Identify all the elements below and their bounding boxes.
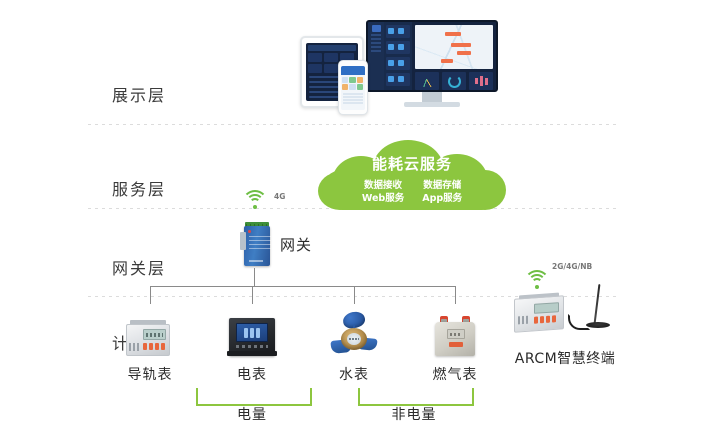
sidebar-row (371, 50, 381, 52)
architecture-diagram: 展示层 服务层 网关层 计量层 (0, 0, 715, 443)
wifi-icon (524, 270, 550, 290)
display-layer-devices (300, 8, 540, 118)
cloud-item: App服务 (422, 192, 462, 205)
arcm-uplink-tag: 2G/4G/NB (552, 262, 592, 271)
monitor-neck (422, 92, 442, 102)
gateway-icon (240, 222, 274, 266)
map-marker (445, 32, 461, 36)
layer-label-gateway: 网关层 (112, 255, 166, 279)
meter-electric: 电表 (206, 306, 298, 384)
gas-meter-icon (409, 304, 501, 358)
connector-drop-din (150, 286, 151, 304)
stat-card (386, 41, 410, 54)
layer-label-service: 服务层 (112, 176, 166, 200)
dashboard-stat-column (384, 22, 412, 90)
tablet-header (308, 45, 356, 51)
phone-list-row (343, 96, 363, 98)
phone-app-icon (357, 77, 363, 83)
map-marker (441, 59, 453, 63)
meter-water: 水表 (308, 300, 400, 384)
arcm-smart-terminal: 2G/4G/NB ARCM智慧终端 (500, 262, 630, 372)
cloud-column-receive: 数据接收 Web服务 (362, 179, 404, 205)
map-panel (415, 25, 493, 69)
energy-cloud-service: 能耗云服务 数据接收 Web服务 数据存储 App服务 (318, 140, 506, 212)
arcm-device-icon (514, 294, 568, 334)
dashboard-sidebar (368, 22, 384, 90)
cloud-title: 能耗云服务 (318, 153, 506, 174)
phone-app-icon (342, 84, 348, 90)
tablet-cell (324, 64, 338, 73)
cloud-text: 能耗云服务 数据接收 Web服务 数据存储 App服务 (318, 140, 506, 212)
phone-header (341, 66, 365, 75)
connector-bus (150, 286, 456, 287)
sidebar-row (371, 42, 381, 44)
cloud-service-columns: 数据接收 Web服务 数据存储 App服务 (318, 179, 506, 205)
phone-list-row (343, 102, 363, 104)
meter-label: 电表 (206, 364, 298, 384)
divider-display-service (88, 124, 616, 125)
phone-app-grid (341, 75, 365, 92)
tablet-cell (324, 53, 338, 62)
gateway-uplink-tag: 4G (274, 192, 285, 201)
water-meter-icon (308, 300, 400, 358)
dashboard-main (412, 22, 496, 90)
cloud-item: 数据接收 (362, 179, 404, 192)
connector-drop-gas (455, 286, 456, 304)
tablet-cell (308, 53, 322, 62)
map-marker (457, 51, 471, 55)
din-rail-meter-icon (104, 306, 196, 358)
phone-screen (341, 66, 365, 110)
layer-label-display: 展示层 (112, 82, 166, 106)
panel-meter-icon (206, 306, 298, 358)
sidebar-row (371, 46, 381, 48)
meter-label: 水表 (308, 364, 400, 384)
sidebar-row (371, 34, 381, 36)
tablet-cell (308, 64, 322, 73)
phone-list-row (343, 99, 363, 101)
phone-app-icon (342, 77, 348, 83)
stat-card (386, 73, 410, 86)
wifi-icon (242, 190, 268, 210)
connector-gateway-stem (254, 268, 255, 286)
cloud-item: Web服务 (362, 192, 404, 205)
trend-chart-widget (415, 72, 439, 90)
gateway-label: 网关 (280, 234, 312, 255)
dashboard-widgets (415, 72, 493, 90)
meter-gas: 燃气表 (409, 304, 501, 384)
smartphone-device (338, 60, 368, 115)
monitor-base (404, 102, 460, 107)
stat-card (386, 25, 410, 38)
sidebar-row (371, 38, 381, 40)
phone-app-icon (349, 77, 355, 83)
bar-chart-widget (469, 72, 493, 90)
phone-app-icon (349, 84, 355, 90)
monitor-screen (366, 20, 498, 92)
meter-label: 燃气表 (409, 364, 501, 384)
phone-list-row (343, 93, 363, 95)
phone-app-icon (357, 84, 363, 90)
meter-label: 导轨表 (104, 364, 196, 384)
stat-card (386, 57, 410, 70)
arcm-label: ARCM智慧终端 (500, 348, 630, 368)
cloud-column-storage: 数据存储 App服务 (422, 179, 462, 205)
map-marker (451, 43, 471, 47)
desktop-monitor (366, 20, 498, 92)
connector-drop-electric (252, 286, 253, 304)
meter-din-rail: 导轨表 (104, 306, 196, 384)
gauge-widget (442, 72, 466, 90)
group-label-non-electric: 非电量 (358, 404, 470, 424)
sidebar-logo-icon (372, 25, 381, 32)
group-label-electric: 电量 (196, 404, 308, 424)
cloud-item: 数据存储 (422, 179, 462, 192)
